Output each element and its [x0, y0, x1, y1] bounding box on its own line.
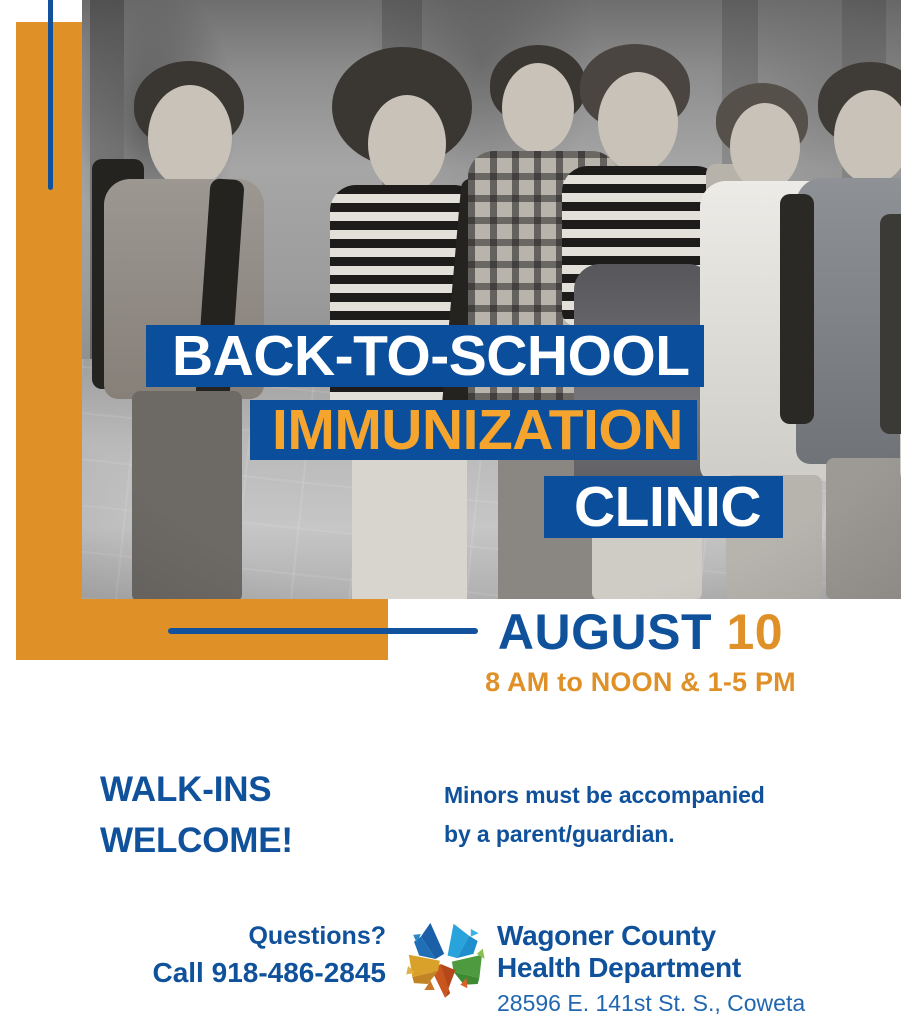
date-block: AUGUST 10 8 AM to NOON & 1-5 PM — [380, 607, 901, 698]
walk-ins-line-1: WALK-INS — [100, 765, 293, 816]
footer: Questions? Call 918-486-2845 — [0, 920, 901, 1024]
minors-notice: Minors must be accompanied by a parent/g… — [444, 776, 874, 854]
org-address: 28596 E. 141st St. S., Coweta — [497, 989, 805, 1019]
flyer-canvas: BACK-TO-SCHOOL IMMUNIZATION CLINIC AUGUS… — [0, 0, 901, 1024]
event-date: AUGUST 10 — [380, 607, 901, 657]
org-name-line-2: Health Department — [497, 952, 805, 984]
questions-label: Questions? — [0, 920, 386, 954]
event-hours: 8 AM to NOON & 1-5 PM — [380, 667, 901, 698]
organization-block: Wagoner County Health Department 28596 E… — [497, 920, 805, 1019]
contact-block: Questions? Call 918-486-2845 — [0, 920, 386, 992]
walk-ins-notice: WALK-INS WELCOME! — [100, 765, 293, 867]
minors-line-2: by a parent/guardian. — [444, 815, 874, 854]
wagoner-county-health-department-logo-icon — [402, 916, 488, 1002]
headline-line-1: BACK-TO-SCHOOL — [146, 325, 704, 387]
phone-number[interactable]: Call 918-486-2845 — [0, 954, 386, 992]
org-name-line-1: Wagoner County — [497, 920, 805, 952]
event-day: 10 — [726, 604, 783, 660]
headline-line-3: CLINIC — [544, 476, 783, 538]
blue-vertical-rule — [48, 0, 53, 190]
event-month: AUGUST — [498, 604, 712, 660]
headline-line-2: IMMUNIZATION — [250, 400, 697, 460]
minors-line-1: Minors must be accompanied — [444, 776, 874, 815]
walk-ins-line-2: WELCOME! — [100, 816, 293, 867]
